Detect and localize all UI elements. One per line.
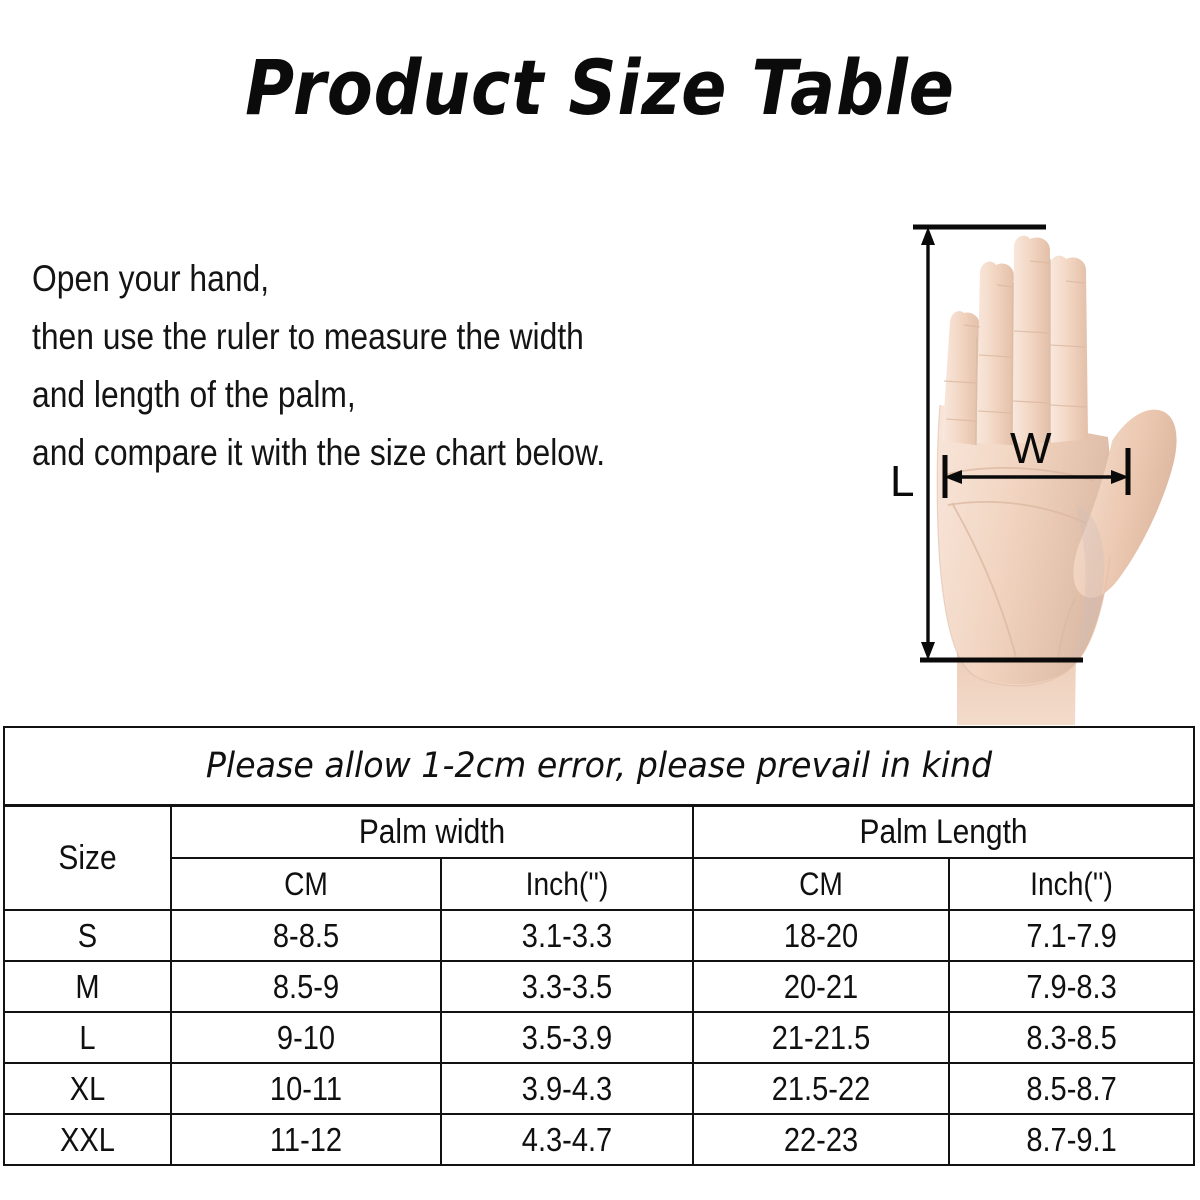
cell-length-inch: 8.3-8.5: [949, 1012, 1194, 1063]
header-width-cm-label: CM: [188, 866, 424, 903]
table-note-row: Please allow 1-2cm error, please prevail…: [4, 727, 1194, 806]
cell-size-text: S: [15, 917, 160, 955]
cell-width-inch-text: 3.1-3.3: [457, 917, 677, 955]
table-row: M 8.5-9 3.3-3.5 20-21 7.9-8.3: [4, 961, 1194, 1012]
header-palm-length-label: Palm Length: [724, 813, 1163, 852]
cell-length-inch-text: 8.5-8.7: [965, 1070, 1179, 1108]
cell-width-inch-text: 3.9-4.3: [457, 1070, 677, 1108]
cell-width-cm: 8.5-9: [171, 961, 441, 1012]
length-arrow-head-bottom: [921, 642, 935, 660]
instruction-line-3: and length of the palm,: [32, 366, 746, 424]
size-chart-page: Product Size Table Open your hand, then …: [0, 0, 1200, 1200]
header-width-cm: CM: [171, 858, 441, 910]
cell-width-inch: 3.5-3.9: [441, 1012, 693, 1063]
cell-length-cm-text: 20-21: [709, 968, 933, 1006]
instruction-line-1: Open your hand,: [32, 250, 746, 308]
cell-width-inch: 3.3-3.5: [441, 961, 693, 1012]
table-row: L 9-10 3.5-3.9 21-21.5 8.3-8.5: [4, 1012, 1194, 1063]
header-length-cm: CM: [693, 858, 949, 910]
cell-width-cm: 9-10: [171, 1012, 441, 1063]
cell-size: S: [4, 910, 171, 961]
index-finger: [1050, 256, 1088, 443]
cell-length-inch-text: 7.1-7.9: [965, 917, 1179, 955]
cell-width-cm-text: 8-8.5: [188, 917, 424, 955]
header-length-inch: Inch(''): [949, 858, 1194, 910]
cell-length-inch-text: 8.3-8.5: [965, 1019, 1179, 1057]
length-arrow-head-top: [921, 227, 935, 245]
cell-size: XXL: [4, 1114, 171, 1165]
cell-length-inch: 7.1-7.9: [949, 910, 1194, 961]
header-length-cm-label: CM: [709, 866, 933, 903]
table-note-text: Please allow 1-2cm error, please prevail…: [35, 746, 1164, 786]
table-row: XXL 11-12 4.3-4.7 22-23 8.7-9.1: [4, 1114, 1194, 1165]
cell-length-cm-text: 21.5-22: [709, 1070, 933, 1108]
cell-width-cm-text: 9-10: [188, 1019, 424, 1057]
cell-width-inch: 4.3-4.7: [441, 1114, 693, 1165]
header-palm-length: Palm Length: [693, 806, 1194, 859]
cell-length-cm-text: 22-23: [709, 1121, 933, 1159]
cell-size-text: L: [15, 1019, 160, 1057]
header-width-inch-label: Inch(''): [457, 866, 677, 903]
cell-width-cm: 8-8.5: [171, 910, 441, 961]
hand-measurement-figure: L W: [880, 205, 1200, 725]
cell-length-inch-text: 7.9-8.3: [965, 968, 1179, 1006]
cell-size: L: [4, 1012, 171, 1063]
header-size-label: Size: [15, 839, 160, 878]
cell-size-text: M: [15, 968, 160, 1006]
cell-length-cm: 22-23: [693, 1114, 949, 1165]
cell-length-inch-text: 8.7-9.1: [965, 1121, 1179, 1159]
cell-length-cm-text: 18-20: [709, 917, 933, 955]
header-palm-width-label: Palm width: [203, 813, 661, 852]
cell-size-text: XL: [15, 1070, 160, 1108]
cell-width-inch-text: 4.3-4.7: [457, 1121, 677, 1159]
cell-length-cm: 18-20: [693, 910, 949, 961]
table-group-header-row: Size Palm width Palm Length: [4, 806, 1194, 859]
cell-width-inch: 3.9-4.3: [441, 1063, 693, 1114]
table-note-cell: Please allow 1-2cm error, please prevail…: [4, 727, 1194, 806]
cell-width-cm-text: 10-11: [188, 1070, 424, 1108]
cell-width-inch-text: 3.5-3.9: [457, 1019, 677, 1057]
cell-size: M: [4, 961, 171, 1012]
header-width-inch: Inch(''): [441, 858, 693, 910]
cell-length-inch: 7.9-8.3: [949, 961, 1194, 1012]
cell-size: XL: [4, 1063, 171, 1114]
instruction-line-4: and compare it with the size chart below…: [32, 424, 746, 482]
width-label: W: [1010, 427, 1052, 471]
cell-length-cm-text: 21-21.5: [709, 1019, 933, 1057]
size-table: Please allow 1-2cm error, please prevail…: [3, 726, 1195, 1166]
cell-width-inch-text: 3.3-3.5: [457, 968, 677, 1006]
table-row: XL 10-11 3.9-4.3 21.5-22 8.5-8.7: [4, 1063, 1194, 1114]
header-palm-width: Palm width: [171, 806, 693, 859]
cell-length-cm: 21.5-22: [693, 1063, 949, 1114]
cell-width-cm: 11-12: [171, 1114, 441, 1165]
cell-size-text: XXL: [15, 1121, 160, 1159]
ring-finger: [976, 262, 1014, 445]
cell-length-inch: 8.7-9.1: [949, 1114, 1194, 1165]
table-unit-header-row: CM Inch('') CM Inch(''): [4, 858, 1194, 910]
header-length-inch-label: Inch(''): [965, 866, 1179, 903]
header-size: Size: [4, 806, 171, 911]
cell-width-inch: 3.1-3.3: [441, 910, 693, 961]
cell-length-cm: 20-21: [693, 961, 949, 1012]
cell-length-cm: 21-21.5: [693, 1012, 949, 1063]
instruction-line-2: then use the ruler to measure the width: [32, 308, 746, 366]
cell-width-cm-text: 8.5-9: [188, 968, 424, 1006]
cell-width-cm: 10-11: [171, 1063, 441, 1114]
length-label: L: [890, 460, 914, 504]
cell-width-cm-text: 11-12: [188, 1121, 424, 1159]
table-row: S 8-8.5 3.1-3.3 18-20 7.1-7.9: [4, 910, 1194, 961]
middle-finger: [1012, 236, 1050, 443]
cell-length-inch: 8.5-8.7: [949, 1063, 1194, 1114]
pinky-finger: [942, 311, 980, 445]
instruction-block: Open your hand, then use the ruler to me…: [32, 250, 862, 482]
page-title: Product Size Table: [72, 46, 1128, 130]
